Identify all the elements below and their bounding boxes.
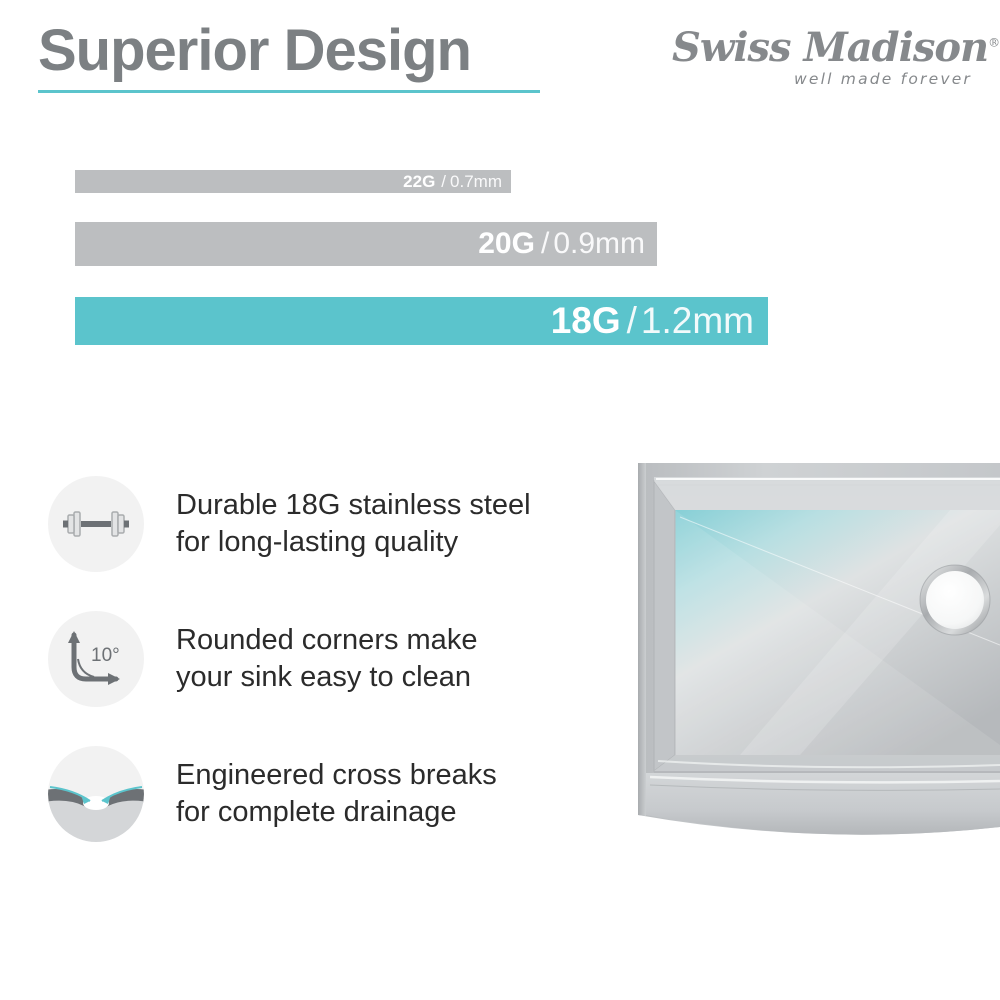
page-title: Superior Design: [38, 22, 471, 80]
feature-item-rounded-corners: 10° Rounded corners make your sink easy …: [48, 611, 608, 746]
feature-text-rounded-corners: Rounded corners make your sink easy to c…: [176, 622, 477, 696]
feature-item-durability: Durable 18G stainless steel for long-las…: [48, 476, 608, 611]
product-feature-page: Superior Design Swiss Madison® well made…: [0, 0, 1000, 1000]
brand-name-text: Swiss Madison: [672, 24, 988, 71]
cross-break-drainage-icon: [48, 746, 144, 842]
page-title-block: Superior Design: [38, 22, 471, 80]
feature-line-1: Durable 18G stainless steel: [176, 487, 531, 524]
feature-list: Durable 18G stainless steel for long-las…: [48, 476, 608, 881]
feature-line-2: for long-lasting quality: [176, 524, 531, 561]
gauge-bar-separator: /: [621, 300, 641, 342]
gauge-bar-label: 18G: [551, 300, 621, 342]
gauge-bar-18g: 18G / 1.2mm: [75, 297, 768, 345]
feature-line-2: your sink easy to clean: [176, 659, 477, 696]
product-image-sink: [620, 455, 1000, 905]
gauge-bar-thickness: 0.7mm: [450, 172, 502, 192]
corner-angle-icon: 10°: [48, 611, 144, 707]
feature-line-2: for complete drainage: [176, 794, 497, 831]
brand-logo: Swiss Madison® well made forever: [672, 28, 972, 90]
gauge-bar-22g: 22G / 0.7mm: [75, 170, 511, 193]
gauge-bar-20g: 20G / 0.9mm: [75, 222, 657, 266]
gauge-bar-separator: /: [535, 227, 553, 261]
feature-line-1: Engineered cross breaks: [176, 757, 497, 794]
gauge-bar-thickness: 0.9mm: [553, 227, 645, 261]
gauge-bar-label: 20G: [478, 227, 535, 261]
brand-tagline: well made forever: [672, 72, 972, 88]
feature-text-durability: Durable 18G stainless steel for long-las…: [176, 487, 531, 561]
gauge-bar-thickness: 1.2mm: [641, 300, 754, 342]
feature-item-drainage: Engineered cross breaks for complete dra…: [48, 746, 608, 881]
feature-text-drainage: Engineered cross breaks for complete dra…: [176, 757, 497, 831]
brand-name: Swiss Madison®: [672, 28, 972, 68]
gauge-bar-label: 22G: [403, 172, 435, 192]
title-underline: [38, 90, 540, 93]
gauge-bar-separator: /: [435, 172, 450, 192]
registered-trademark-icon: ®: [988, 36, 999, 50]
corner-angle-label: 10°: [91, 645, 120, 666]
dumbbell-icon: [48, 476, 144, 572]
feature-line-1: Rounded corners make: [176, 622, 477, 659]
